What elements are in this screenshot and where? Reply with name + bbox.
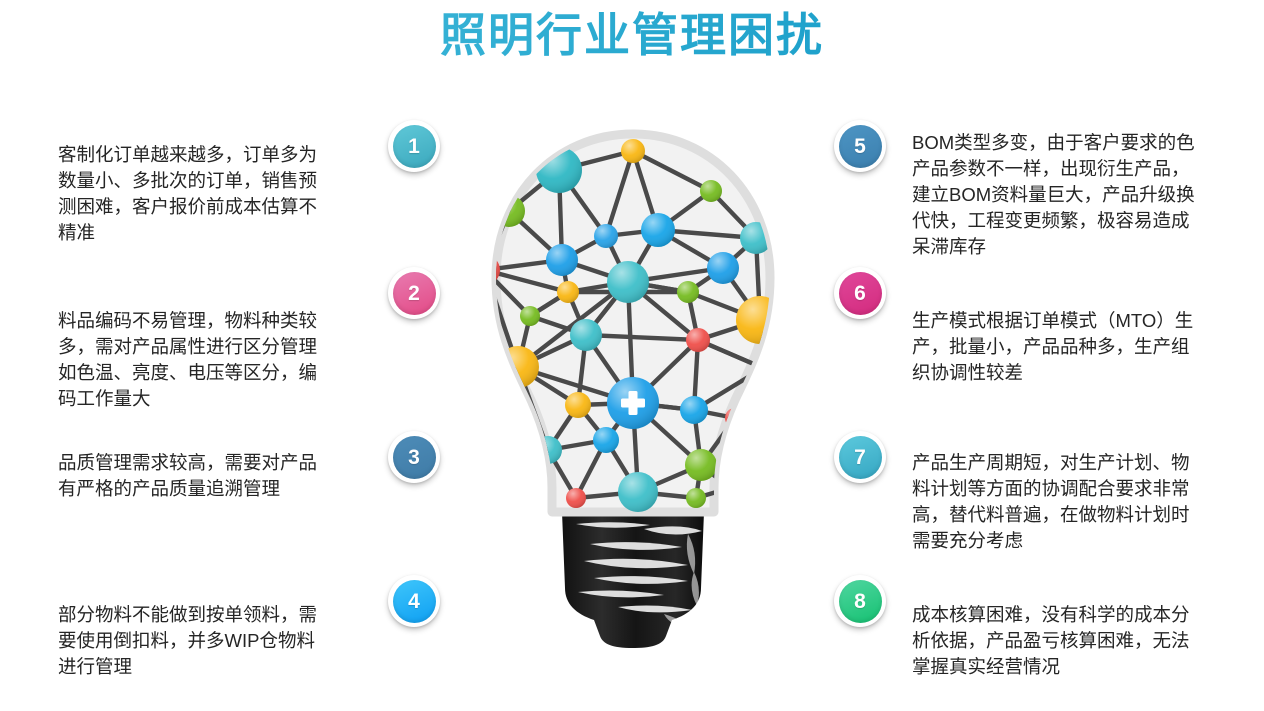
node <box>700 180 722 202</box>
badge-3-number: 3 <box>408 447 420 468</box>
item-text-2: 料品编码不易管理，物料种类较 多，需对产品属性进行区分管理 如色温、亮度、电压等… <box>58 308 350 412</box>
badge-8-disc: 8 <box>839 580 882 623</box>
node <box>736 296 784 344</box>
badge-7[interactable]: 7 <box>834 431 886 483</box>
badge-4-disc: 4 <box>393 580 436 623</box>
badge-5-disc: 5 <box>839 125 882 168</box>
node <box>607 261 649 303</box>
item-text-3: 品质管理需求较高，需要对产品 有严格的产品质量追溯管理 <box>58 450 350 502</box>
node <box>707 252 739 284</box>
node <box>593 427 619 453</box>
node <box>520 306 540 326</box>
badge-7-number: 7 <box>854 447 866 468</box>
badge-1-number: 1 <box>408 136 420 157</box>
badge-1-disc: 1 <box>393 125 436 168</box>
badge-2-disc: 2 <box>393 272 436 315</box>
item-text-5: BOM类型多变，由于客户要求的色 产品参数不一样，出现衍生产品， 建立BOM资料… <box>912 130 1242 260</box>
node <box>557 281 579 303</box>
node <box>621 139 645 163</box>
network-center-plus-node <box>607 377 659 429</box>
item-text-4: 部分物料不能做到按单领料，需 要使用倒扣料，并多WIP仓物料 进行管理 <box>58 602 350 680</box>
node <box>685 449 717 481</box>
badge-6[interactable]: 6 <box>834 267 886 319</box>
badge-1[interactable]: 1 <box>388 120 440 172</box>
badge-2[interactable]: 2 <box>388 267 440 319</box>
item-text-7: 产品生产周期短，对生产计划、物 料计划等方面的协调配合要求非常 高，替代料普遍，… <box>912 450 1242 554</box>
node <box>566 488 586 508</box>
node <box>565 392 591 418</box>
badge-6-number: 6 <box>854 283 866 304</box>
badge-3-disc: 3 <box>393 436 436 479</box>
item-text-6: 生产模式根据订单模式（MTO）生 产，批量小，产品品种多，生产组 织协调性较差 <box>912 308 1242 386</box>
badge-8-number: 8 <box>854 591 866 612</box>
node <box>719 477 741 499</box>
item-text-1: 客制化订单越来越多，订单多为 数量小、多批次的订单，销售预 测困难，客户报价前成… <box>58 142 350 246</box>
badge-2-number: 2 <box>408 283 420 304</box>
badge-6-disc: 6 <box>839 272 882 315</box>
badge-4[interactable]: 4 <box>388 575 440 627</box>
node <box>677 281 699 303</box>
node <box>570 319 602 351</box>
badge-4-number: 4 <box>408 591 420 612</box>
badge-5[interactable]: 5 <box>834 120 886 172</box>
item-text-8: 成本核算困难，没有科学的成本分 析依据，产品盈亏核算困难，无法 掌握真实经营情况 <box>912 602 1242 680</box>
badge-7-disc: 7 <box>839 436 882 479</box>
node <box>594 224 618 248</box>
page-title: 照明行业管理困扰 <box>0 4 1264 66</box>
bulb-base <box>562 512 704 648</box>
node <box>641 213 675 247</box>
node <box>546 244 578 276</box>
badge-8[interactable]: 8 <box>834 575 886 627</box>
lightbulb-network-illustration <box>458 120 808 650</box>
node <box>686 488 706 508</box>
badge-3[interactable]: 3 <box>388 431 440 483</box>
node <box>686 328 710 352</box>
node <box>618 472 658 512</box>
node <box>680 396 708 424</box>
badge-5-number: 5 <box>854 136 866 157</box>
